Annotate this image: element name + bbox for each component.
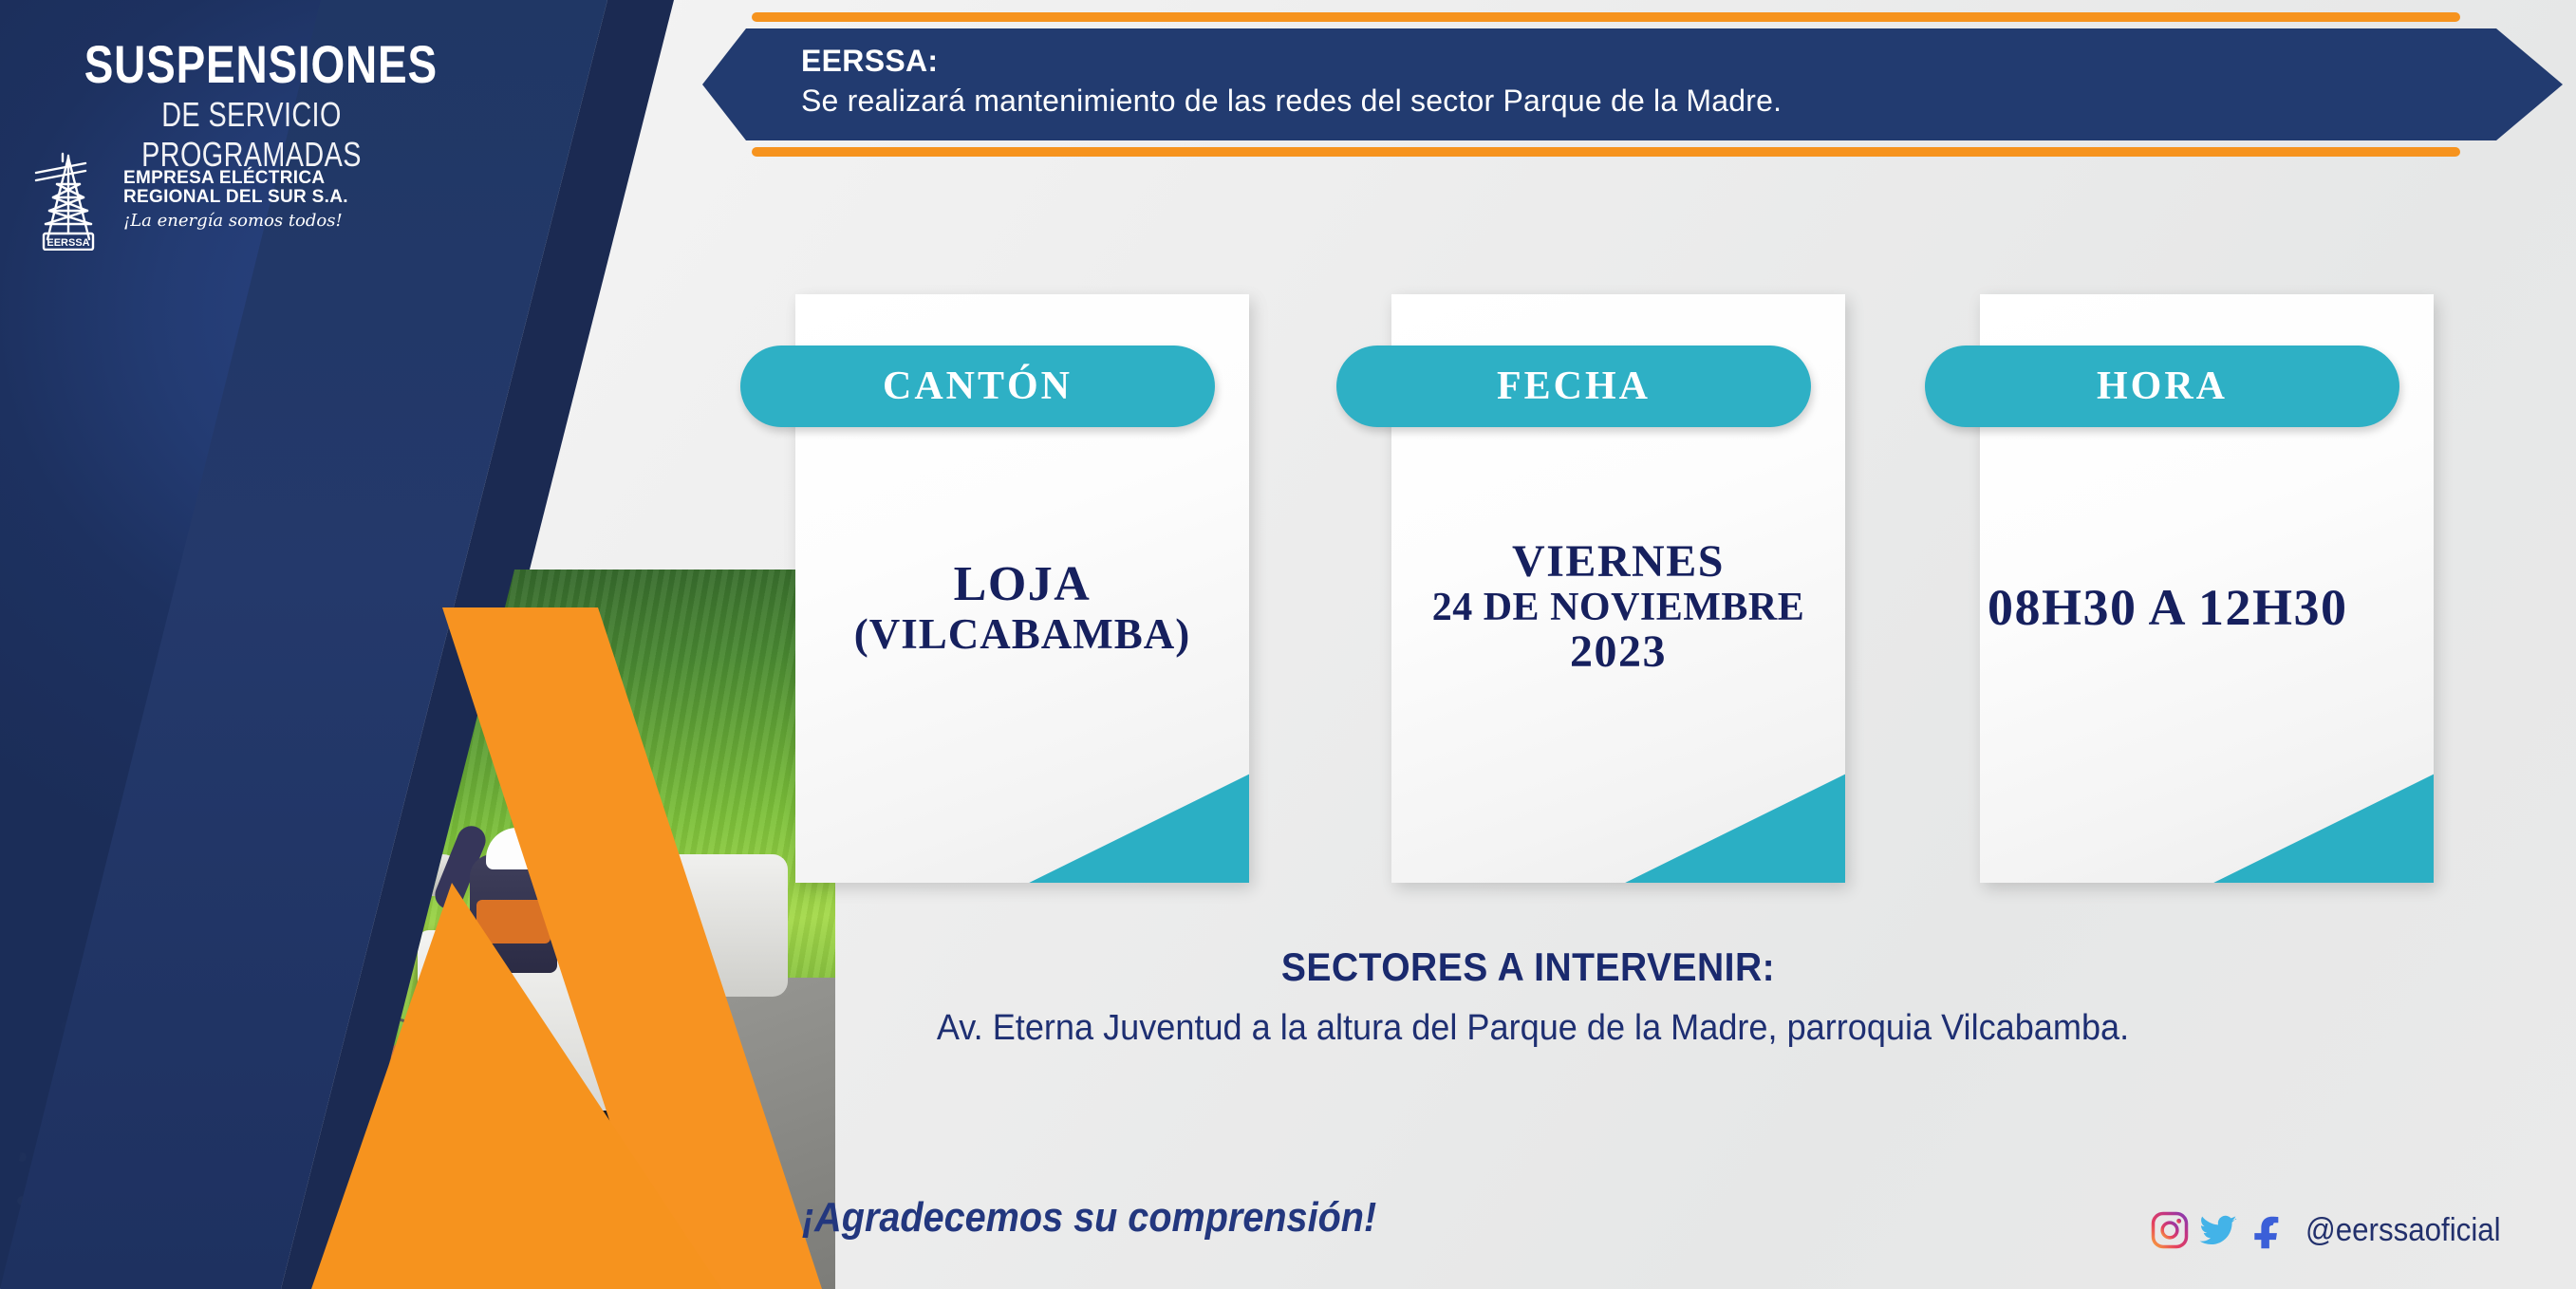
card-corner-triangle [1014, 750, 1249, 883]
card-corner-triangle [2198, 750, 2434, 883]
facebook-icon[interactable] [2249, 1210, 2288, 1250]
card-label-ribbon: CANTÓN [740, 346, 1215, 427]
sectors-title: SECTORES A INTERVENIR: [778, 944, 2279, 990]
card-hora: 08H30 A 12H30 HORA [1980, 294, 2434, 883]
card-label-canton: CANTÓN [883, 364, 1073, 409]
twitter-icon[interactable] [2199, 1210, 2239, 1250]
poster-canvas: SUSPENSIONES DE SERVICIO PROGRAMADAS [0, 0, 2576, 1289]
card-label-fecha: FECHA [1497, 364, 1651, 409]
thanks-message: ¡Agradecemos su comprensión! [802, 1194, 1376, 1242]
social-handle[interactable]: @eerssaoficial [2305, 1212, 2501, 1249]
card-canton: LOJA (VILCABAMBA) CANTÓN [795, 294, 1249, 883]
instagram-icon[interactable] [2150, 1210, 2190, 1250]
card-label-ribbon: FECHA [1336, 346, 1811, 427]
info-cards: LOJA (VILCABAMBA) CANTÓN VIERNES 24 DE N… [0, 0, 2576, 1289]
card-label-hora: HORA [2097, 364, 2228, 409]
card-fecha: VIERNES 24 DE NOVIEMBRE 2023 FECHA [1391, 294, 1845, 883]
card-corner-triangle [1610, 750, 1845, 883]
sectors-text: Av. Eterna Juventud a la altura del Parq… [708, 1008, 2359, 1049]
social-links[interactable]: @eerssaoficial [2150, 1210, 2518, 1250]
card-label-ribbon: HORA [1925, 346, 2399, 427]
